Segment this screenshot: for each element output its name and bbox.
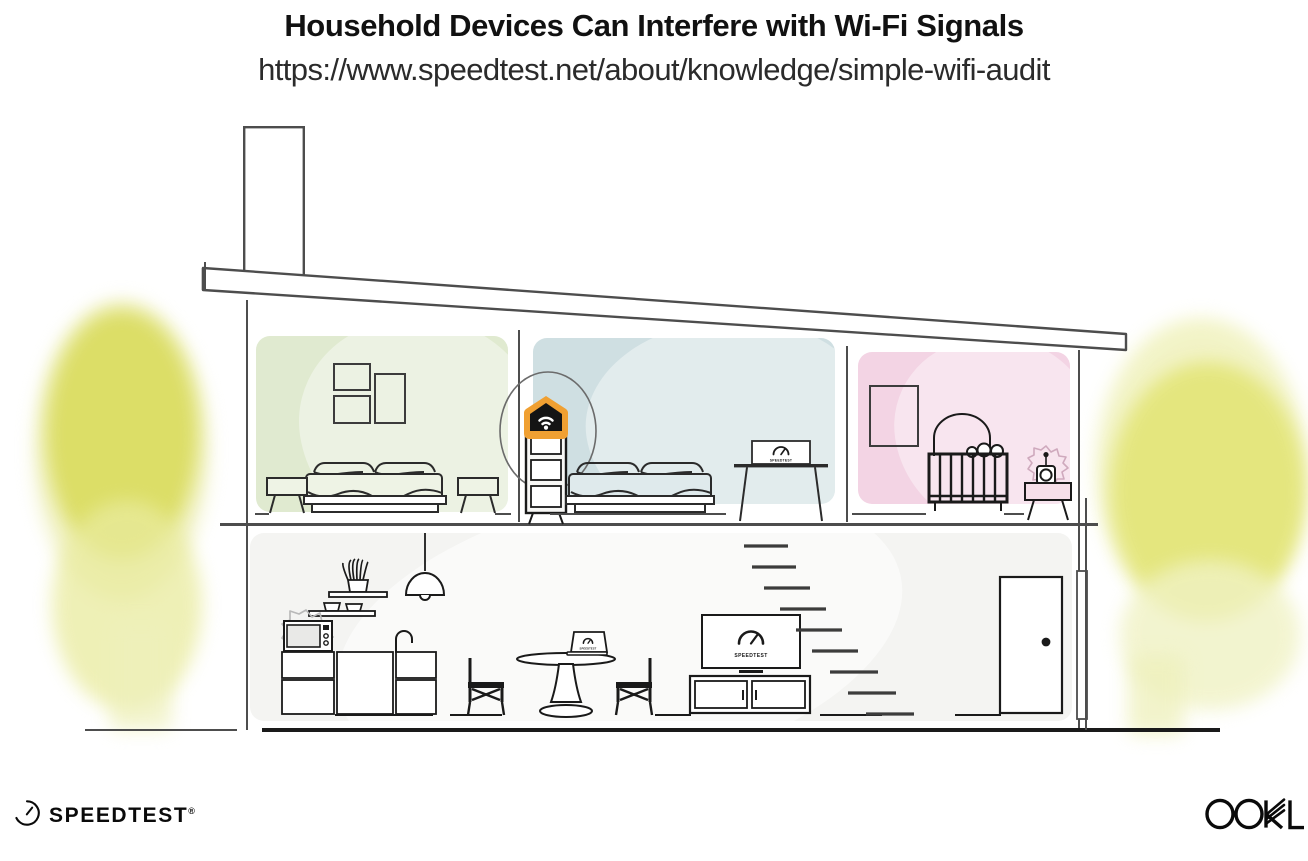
chimney — [243, 126, 305, 278]
speedtest-wordmark: SPEEDTEST® — [49, 804, 195, 828]
speedtest-logo: SPEEDTEST® — [14, 800, 195, 831]
staircase — [738, 540, 958, 716]
wall-interior-2 — [846, 346, 848, 522]
baseboard-green-left — [255, 513, 269, 515]
monitor-blue-bedroom[interactable]: SPEEDTEST — [751, 440, 811, 468]
entry-floor-line — [955, 714, 1001, 716]
nightstand-right-green — [456, 477, 500, 515]
kitchen-floor-line-1 — [335, 714, 433, 716]
ground-line-left — [85, 729, 237, 731]
baseboard-nursery-right — [1004, 513, 1024, 515]
speedtest-gauge-icon — [14, 800, 40, 831]
baseboard-green-right — [495, 513, 511, 515]
kitchen-faucet — [394, 628, 418, 654]
crib — [927, 452, 1009, 512]
baby-monitor — [1033, 452, 1059, 486]
laptop-screen-label: SPEEDTEST — [580, 647, 597, 651]
front-door[interactable] — [999, 576, 1063, 716]
living-floor-line-left — [655, 714, 691, 716]
roof-edge-left — [204, 262, 206, 290]
infographic-canvas: Household Devices Can Interfere with Wi-… — [0, 0, 1308, 861]
dining-chair-right — [612, 658, 654, 716]
ookla-logo — [1204, 797, 1308, 836]
wall-left-exterior — [246, 300, 248, 730]
monitor-screen-label: SPEEDTEST — [770, 459, 793, 463]
wall-art-green-bedroom — [333, 363, 407, 425]
dining-chair-left — [466, 658, 508, 716]
kitchen-upper-shelf — [328, 558, 388, 600]
page-title: Household Devices Can Interfere with Wi-… — [0, 8, 1308, 44]
source-url: https://www.speedtest.net/about/knowledg… — [0, 52, 1308, 88]
floor-divider — [220, 523, 1098, 526]
window-mullion — [1085, 498, 1087, 730]
bed-green-bedroom — [303, 452, 447, 514]
speedtest-trademark: ® — [188, 806, 195, 816]
microwave — [283, 620, 333, 652]
nightstand-left-green — [265, 477, 309, 515]
ground-line-house — [262, 728, 1220, 732]
foliage-right-trunk — [1128, 655, 1184, 735]
dining-table — [516, 652, 616, 718]
bed-blue-bedroom — [565, 452, 715, 514]
baseboard-blue — [550, 513, 726, 515]
side-table-nursery — [1023, 482, 1073, 522]
wifi-router-badge[interactable] — [521, 394, 571, 445]
dining-laptop[interactable]: SPEEDTEST — [566, 630, 608, 658]
pendant-lamp — [404, 533, 446, 607]
baseboard-nursery-left — [852, 513, 926, 515]
wall-art-nursery — [869, 385, 919, 447]
kitchen-counters — [281, 651, 437, 717]
desk-blue-bedroom — [733, 464, 829, 522]
foliage-left-trunk — [110, 620, 172, 730]
